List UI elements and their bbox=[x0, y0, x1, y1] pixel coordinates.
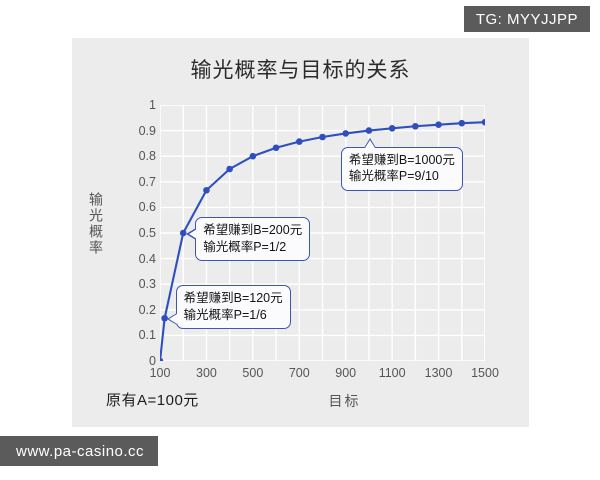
annotation-b-1000: 希望赚到B=1000元 输光概率P=9/10 bbox=[341, 147, 463, 191]
y-tick-label: 0.3 bbox=[126, 277, 156, 291]
y-tick-label: 0.9 bbox=[126, 124, 156, 138]
annotation-b-200: 希望赚到B=200元 输光概率P=1/2 bbox=[195, 217, 310, 261]
x-tick-label: 1100 bbox=[379, 366, 406, 380]
data-point bbox=[226, 166, 233, 173]
y-tick-label: 0.5 bbox=[126, 226, 156, 240]
data-point bbox=[250, 153, 257, 160]
data-point bbox=[273, 144, 280, 151]
x-tick-label: 1500 bbox=[471, 366, 499, 380]
initial-capital-note: 原有A=100元 bbox=[106, 389, 199, 410]
data-point bbox=[412, 123, 419, 130]
x-tick-label: 1300 bbox=[425, 366, 453, 380]
data-point bbox=[458, 120, 465, 127]
annotation-line: 希望赚到B=120元 bbox=[184, 290, 283, 307]
data-point bbox=[366, 127, 373, 134]
annotation-line: 希望赚到B=1000元 bbox=[349, 152, 455, 169]
y-axis-label: 输光概率 bbox=[86, 192, 106, 256]
y-tick-label: 0.1 bbox=[126, 328, 156, 342]
x-tick-label: 300 bbox=[196, 366, 217, 380]
y-tick-label: 0.8 bbox=[126, 149, 156, 163]
x-tick-label: 900 bbox=[335, 366, 356, 380]
data-point bbox=[482, 119, 485, 126]
annotation-line: 输光概率P=1/2 bbox=[203, 239, 302, 256]
x-axis-ticks: 100300500700900110013001500 bbox=[160, 366, 485, 386]
data-point bbox=[160, 358, 163, 361]
data-point bbox=[389, 125, 396, 132]
annotation-line: 输光概率P=9/10 bbox=[349, 168, 455, 185]
x-tick-label: 700 bbox=[289, 366, 310, 380]
chart-card: 输光概率与目标的关系 输光概率 00.10.20.30.40.50.60.70.… bbox=[72, 38, 529, 427]
y-axis-ticks: 00.10.20.30.40.50.60.70.80.91 bbox=[122, 105, 156, 361]
annotation-line: 输光概率P=1/6 bbox=[184, 307, 283, 324]
data-point bbox=[435, 121, 442, 128]
annotation-line: 希望赚到B=200元 bbox=[203, 222, 302, 239]
data-point bbox=[319, 134, 326, 141]
y-tick-label: 1 bbox=[126, 98, 156, 112]
page-title: 输光概率与目标的关系 bbox=[72, 54, 529, 84]
y-tick-label: 0.7 bbox=[126, 175, 156, 189]
data-point bbox=[342, 130, 349, 137]
x-tick-label: 500 bbox=[242, 366, 263, 380]
data-point bbox=[296, 138, 303, 145]
y-tick-label: 0.6 bbox=[126, 200, 156, 214]
y-tick-label: 0.2 bbox=[126, 303, 156, 317]
screenshot-root: TG: MYYJJPP 输光概率与目标的关系 输光概率 00.10.20.30.… bbox=[0, 0, 600, 480]
x-tick-label: 100 bbox=[150, 366, 171, 380]
annotation-b-120: 希望赚到B=120元 输光概率P=1/6 bbox=[176, 285, 291, 329]
watermark-bottom-left: www.pa-casino.cc bbox=[0, 436, 158, 466]
watermark-top-right: TG: MYYJJPP bbox=[464, 6, 590, 32]
data-point bbox=[203, 187, 210, 194]
y-tick-label: 0.4 bbox=[126, 252, 156, 266]
